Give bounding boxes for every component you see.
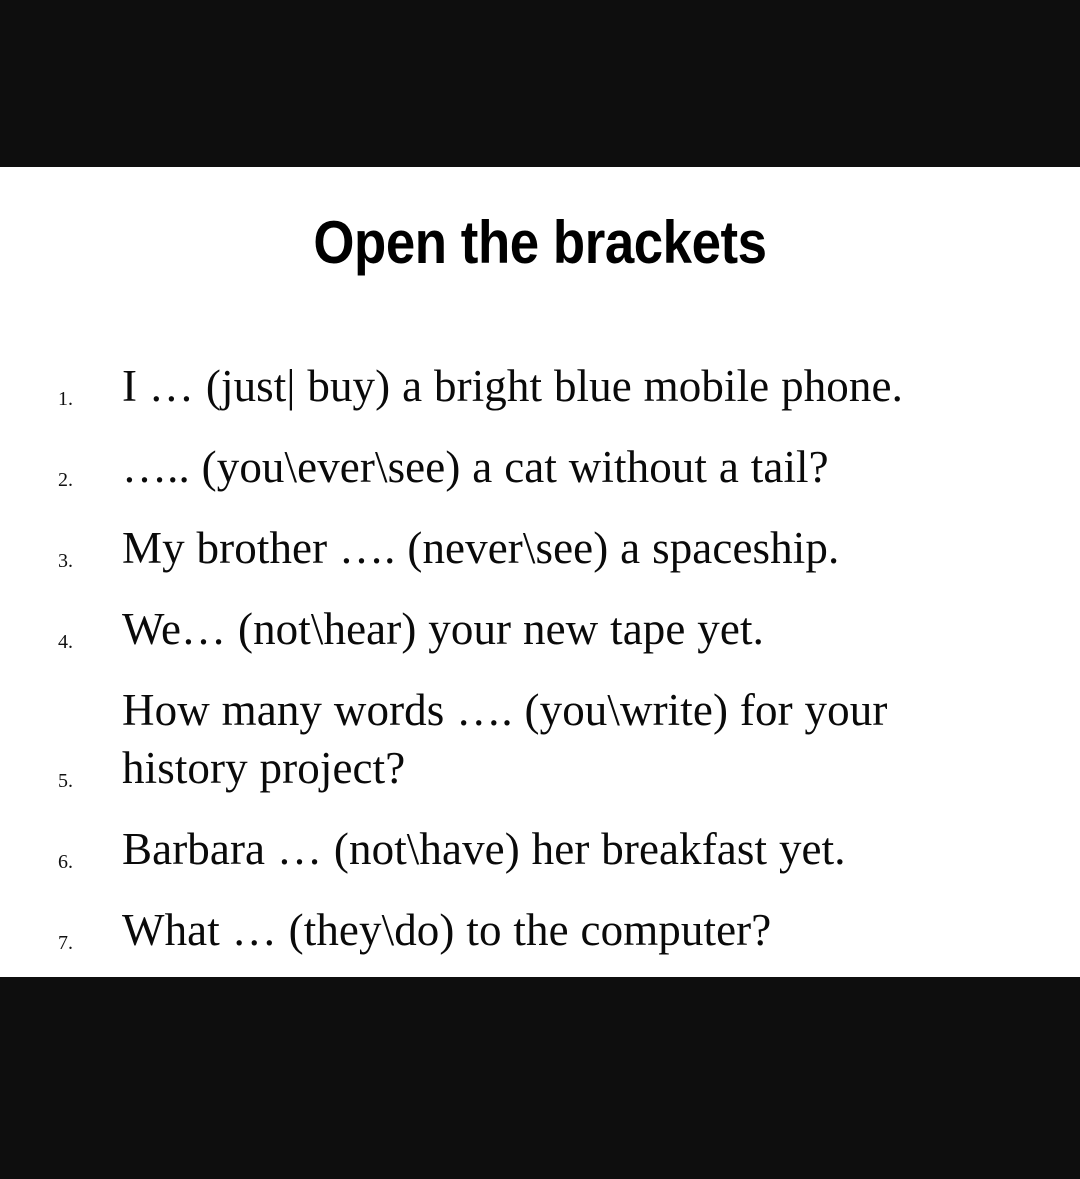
list-item: 6. Barbara … (not\have) her breakfast ye… [0,820,1080,878]
letterbox-bottom-bar [0,977,1080,1179]
list-item-number: 4. [58,632,98,652]
list-item: 5. How many words …. (you\write) for you… [0,681,1080,797]
list-item: 4. We… (not\hear) your new tape yet. [0,600,1080,658]
question-list: 1. I … (just| buy) a bright blue mobile … [0,357,1080,959]
slide-content: Open the brackets 1. I … (just| buy) a b… [0,167,1080,977]
list-item-number: 7. [58,933,98,953]
list-item-number: 5. [58,771,98,791]
page-title: Open the brackets [65,210,1015,276]
list-item: 2. ….. (you\ever\see) a cat without a ta… [0,438,1080,496]
list-item: 7. What … (they\do) to the computer? [0,901,1080,959]
list-item-text: We… (not\hear) your new tape yet. [122,600,1010,658]
list-item-text: ….. (you\ever\see) a cat without a tail? [122,438,1010,496]
letterbox-top-bar [0,0,1080,167]
list-item-text: My brother …. (never\see) a spaceship. [122,519,1010,577]
list-item-number: 3. [58,551,98,571]
list-item-text: How many words …. (you\write) for your h… [122,681,952,797]
list-item: 1. I … (just| buy) a bright blue mobile … [0,357,1080,415]
list-item-text: Barbara … (not\have) her breakfast yet. [122,820,1010,878]
list-item-number: 1. [58,389,98,409]
list-item: 3. My brother …. (never\see) a spaceship… [0,519,1080,577]
slide-frame: Open the brackets 1. I … (just| buy) a b… [0,0,1080,1179]
list-item-text: What … (they\do) to the computer? [122,901,1010,959]
list-item-text: I … (just| buy) a bright blue mobile pho… [122,357,1010,415]
list-item-number: 6. [58,852,98,872]
list-item-number: 2. [58,470,98,490]
